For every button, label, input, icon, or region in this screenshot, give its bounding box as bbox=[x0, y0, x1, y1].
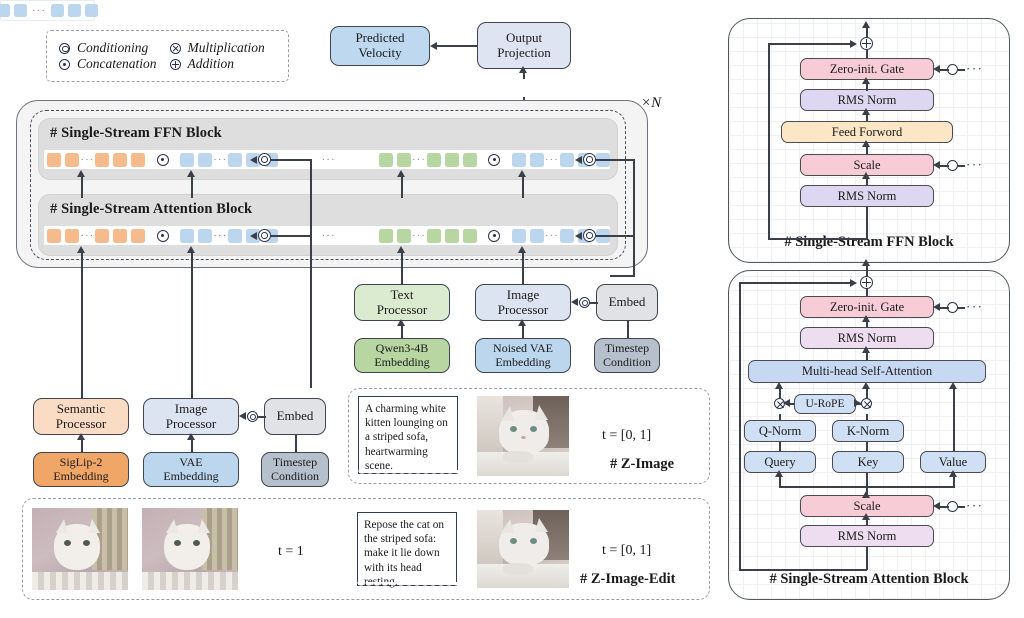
arrow-head bbox=[862, 172, 870, 179]
residual-line bbox=[739, 569, 867, 571]
z-image-edit-target-t-label: t = [0, 1] bbox=[602, 543, 651, 559]
connector-line bbox=[191, 176, 193, 198]
token-blue bbox=[512, 229, 526, 243]
conditioning-marker bbox=[583, 153, 596, 166]
connector-line bbox=[866, 50, 868, 58]
multiplication-icon bbox=[170, 43, 181, 54]
legend-box: Conditioning Multiplication Concatenatio… bbox=[46, 30, 289, 82]
repeat-count-label: ×N bbox=[641, 95, 661, 112]
attention-block-title: # Single-Stream Attention Block bbox=[50, 201, 252, 218]
connector-line bbox=[522, 253, 524, 285]
ffn-gate-ellipsis: ··· bbox=[966, 61, 984, 77]
token-orange bbox=[113, 229, 127, 243]
image-processor-left-box: Image Processor bbox=[143, 398, 239, 435]
token-orange bbox=[65, 153, 79, 167]
legend-item-multiplication: Multiplication bbox=[170, 40, 281, 56]
connector-line bbox=[866, 414, 868, 420]
z-image-edit-source-photo-2 bbox=[142, 508, 238, 590]
z-image-tag: # Z-Image bbox=[610, 456, 674, 473]
arrow-head bbox=[775, 470, 783, 477]
connector-line bbox=[940, 506, 949, 508]
arrow-head bbox=[239, 412, 246, 420]
token-green bbox=[397, 153, 411, 167]
z-image-t-label: t = [0, 1] bbox=[602, 428, 651, 444]
arrow-head bbox=[518, 319, 526, 326]
token bbox=[0, 4, 10, 17]
token-orange bbox=[131, 153, 145, 167]
conditioning-marker bbox=[247, 411, 258, 422]
connector-line bbox=[940, 165, 949, 167]
concatenation-icon bbox=[59, 59, 70, 70]
ffn-detail-title: # Single-Stream FFN Block bbox=[728, 234, 1010, 251]
residual-line bbox=[768, 238, 867, 240]
qwen-embedding-box: Qwen3-4B Embedding bbox=[354, 338, 450, 373]
token-blue bbox=[180, 153, 194, 167]
token-blue bbox=[180, 229, 194, 243]
attn-node-key: Key bbox=[832, 451, 904, 473]
token-green bbox=[445, 229, 459, 243]
token-blue bbox=[512, 153, 526, 167]
token-orange bbox=[113, 153, 127, 167]
connector-line bbox=[271, 159, 311, 161]
arrow-head bbox=[854, 399, 861, 407]
connector-line bbox=[940, 307, 949, 309]
arrow-head bbox=[250, 156, 257, 164]
legend-label: Concatenation bbox=[77, 56, 157, 72]
embed-bus-left bbox=[310, 159, 312, 388]
token-blue bbox=[560, 153, 574, 167]
token-blue bbox=[228, 229, 242, 243]
arrow-head bbox=[571, 298, 578, 306]
z-image-edit-source-t-label: t = 1 bbox=[278, 544, 304, 560]
attention-detail-title: # Single-Stream Attention Block bbox=[728, 571, 1010, 588]
connector-line bbox=[81, 176, 83, 198]
token-blue bbox=[228, 153, 242, 167]
arrow-head bbox=[187, 170, 195, 177]
token bbox=[85, 4, 98, 17]
attn-node-rms-norm-bottom: RMS Norm bbox=[800, 525, 934, 547]
vae-embedding-box: VAE Embedding bbox=[143, 452, 239, 487]
z-image-prompt-text: A charming white kitten lounging on a st… bbox=[358, 396, 458, 474]
arrow-head bbox=[862, 108, 870, 115]
residual-line bbox=[768, 43, 852, 45]
connector-line bbox=[522, 176, 524, 198]
conditioning-marker bbox=[579, 297, 590, 308]
concatenation-icon bbox=[488, 154, 500, 166]
arrow-head bbox=[575, 232, 582, 240]
connector-line bbox=[866, 288, 868, 296]
addition-icon bbox=[170, 59, 181, 70]
arrow-head bbox=[77, 433, 85, 440]
arrow-head bbox=[397, 170, 405, 177]
connector-line bbox=[958, 307, 965, 309]
connector-line bbox=[437, 45, 477, 47]
residual-line bbox=[739, 282, 852, 284]
attn-node-q-norm: Q-Norm bbox=[744, 420, 816, 442]
conditioning-marker bbox=[258, 229, 271, 242]
arrow-head bbox=[949, 382, 957, 389]
connector-line bbox=[958, 506, 965, 508]
arrow-head bbox=[862, 315, 870, 322]
concatenation-icon bbox=[488, 230, 500, 242]
attn-scale-ellipsis: ··· bbox=[966, 498, 984, 514]
arrow-head bbox=[862, 491, 870, 498]
z-image-edit-source-photo-1 bbox=[32, 508, 128, 590]
token-blue bbox=[198, 229, 212, 243]
arrow-head bbox=[783, 399, 790, 407]
connector-line bbox=[191, 253, 193, 398]
arrow-head bbox=[862, 21, 870, 28]
arrow-head bbox=[187, 433, 195, 440]
arrow-head bbox=[187, 246, 195, 253]
siglip-embedding-box: SigLip-2 Embedding bbox=[33, 452, 129, 487]
multiplication-marker bbox=[861, 398, 872, 409]
token bbox=[51, 4, 64, 17]
legend-item-addition: Addition bbox=[170, 56, 281, 72]
arrow-head bbox=[518, 246, 526, 253]
legend-item-concatenation: Concatenation bbox=[59, 56, 170, 72]
connector-line bbox=[590, 302, 598, 304]
arrow-head bbox=[775, 382, 783, 389]
token-orange bbox=[47, 229, 61, 243]
arrow-head bbox=[397, 246, 405, 253]
arrow-head bbox=[933, 161, 940, 169]
connector-line bbox=[627, 321, 629, 338]
legend-label: Addition bbox=[188, 56, 235, 72]
arrow-head bbox=[949, 470, 957, 477]
arrow-head bbox=[77, 246, 85, 253]
z-image-edit-prompt-text: Repose the cat on the striped sofa: make… bbox=[357, 512, 457, 586]
connector-line bbox=[779, 414, 781, 420]
token-green bbox=[463, 153, 477, 167]
connector-line bbox=[258, 416, 266, 418]
token bbox=[68, 4, 81, 17]
output-projection-box: Output Projection bbox=[477, 22, 571, 69]
legend-item-conditioning: Conditioning bbox=[59, 40, 170, 56]
arrow-head bbox=[862, 259, 870, 266]
legend-label: Conditioning bbox=[77, 40, 148, 56]
connector-line bbox=[940, 69, 949, 71]
timestep-condition-right-box: Timestep Condition bbox=[594, 338, 660, 373]
conditioning-icon bbox=[59, 43, 70, 54]
token-blue bbox=[560, 229, 574, 243]
arrow-head bbox=[862, 140, 870, 147]
concatenation-icon bbox=[157, 154, 169, 166]
output-token-strip: ··· bbox=[0, 0, 95, 21]
arrow-head bbox=[862, 77, 870, 84]
arrow-head bbox=[933, 303, 940, 311]
image-processor-right-box: Image Processor bbox=[475, 284, 571, 321]
text-processor-box: Text Processor bbox=[354, 284, 450, 321]
connector-line bbox=[953, 385, 955, 451]
connector-line bbox=[866, 442, 868, 451]
embed-bus-right bbox=[633, 159, 635, 276]
conditioning-marker bbox=[583, 229, 596, 242]
z-image-edit-tag: # Z-Image-Edit bbox=[580, 571, 675, 588]
arrow-head bbox=[77, 170, 85, 177]
token-green bbox=[463, 229, 477, 243]
connector-line bbox=[271, 235, 311, 237]
residual-line bbox=[768, 44, 770, 239]
concatenation-icon bbox=[157, 230, 169, 242]
token-blue bbox=[530, 229, 544, 243]
arrow-head bbox=[575, 156, 582, 164]
token-green bbox=[427, 153, 441, 167]
token-orange bbox=[95, 153, 109, 167]
connector-line bbox=[81, 253, 83, 398]
legend-label: Multiplication bbox=[188, 40, 265, 56]
connector-line bbox=[958, 165, 965, 167]
arrow-head bbox=[518, 170, 526, 177]
conditioning-marker bbox=[258, 153, 271, 166]
embed-left-box: Embed bbox=[264, 398, 326, 435]
attn-node-u-rope: U-RoPE bbox=[794, 394, 856, 414]
connector-line bbox=[866, 473, 868, 487]
attn-gate-ellipsis: ··· bbox=[966, 299, 984, 315]
arrow-head bbox=[850, 279, 857, 287]
connector-line bbox=[596, 235, 634, 237]
embed-right-box: Embed bbox=[596, 284, 658, 321]
arrow-head bbox=[397, 319, 405, 326]
attn-node-multi-head-self-attention: Multi-head Self-Attention bbox=[748, 360, 986, 383]
addition-marker bbox=[860, 276, 873, 289]
connector-line bbox=[401, 176, 403, 198]
arrow-head bbox=[862, 382, 870, 389]
token-orange bbox=[65, 229, 79, 243]
arrow-head bbox=[250, 232, 257, 240]
ffn-block-title: # Single-Stream FFN Block bbox=[50, 125, 222, 142]
token-blue bbox=[198, 153, 212, 167]
addition-marker bbox=[860, 37, 873, 50]
token-blue bbox=[530, 153, 544, 167]
connector-line bbox=[401, 253, 403, 285]
timestep-condition-left-box: Timestep Condition bbox=[261, 452, 329, 487]
connector-line bbox=[958, 69, 965, 71]
token-orange bbox=[47, 153, 61, 167]
token-orange bbox=[131, 229, 145, 243]
ffn-token-strip: ··· ··· ··· ··· ··· bbox=[44, 150, 610, 169]
connector-line bbox=[779, 442, 781, 451]
token-green bbox=[397, 229, 411, 243]
connector-line bbox=[610, 275, 635, 277]
residual-line bbox=[739, 282, 741, 570]
ffn-scale-ellipsis: ··· bbox=[966, 157, 984, 173]
noised-vae-embedding-box: Noised VAE Embedding bbox=[475, 338, 571, 373]
arrow-head bbox=[933, 65, 940, 73]
token-green bbox=[379, 153, 393, 167]
connector-line bbox=[866, 547, 868, 570]
predicted-velocity-box: Predicted Velocity bbox=[330, 26, 430, 66]
arrow-head bbox=[850, 40, 857, 48]
arrow-head bbox=[862, 346, 870, 353]
ffn-node-rms-norm-bottom: RMS Norm bbox=[800, 185, 934, 207]
token-green bbox=[445, 153, 459, 167]
arrow-head bbox=[519, 66, 527, 73]
attn-token-strip: ··· ··· ··· ··· ··· bbox=[44, 226, 610, 245]
connector-line bbox=[295, 435, 297, 452]
semantic-processor-box: Semantic Processor bbox=[33, 398, 129, 435]
token-orange bbox=[95, 229, 109, 243]
arrow-head bbox=[933, 502, 940, 510]
token-green bbox=[379, 229, 393, 243]
token-green bbox=[427, 229, 441, 243]
arrow-head bbox=[430, 42, 437, 50]
connector-line bbox=[866, 207, 868, 239]
connector-line bbox=[596, 159, 634, 161]
token bbox=[14, 4, 27, 17]
z-image-edit-output-photo bbox=[477, 510, 569, 588]
arrow-head bbox=[862, 513, 870, 520]
z-image-output-photo bbox=[477, 396, 569, 476]
attn-node-k-norm: K-Norm bbox=[832, 420, 904, 442]
